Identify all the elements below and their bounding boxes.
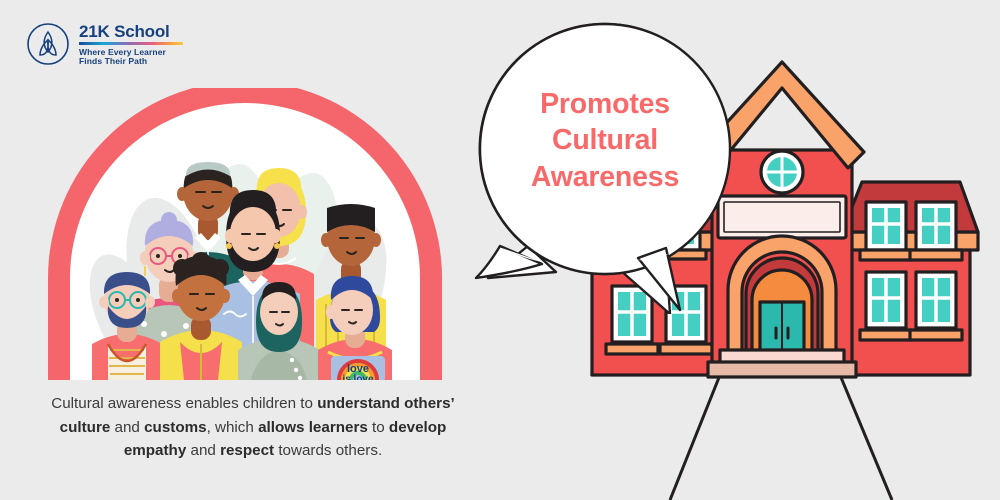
headline-text: Promotes Cultural Awareness: [486, 86, 724, 195]
school-entrance: [728, 236, 836, 358]
rainbow-badge: love is love: [331, 356, 385, 380]
lotus-circle-logo-icon: [26, 22, 70, 66]
brand-tagline-line2: Finds Their Path: [79, 57, 183, 66]
headline-line-3: Awareness: [486, 159, 724, 195]
caption-run: to: [368, 419, 389, 436]
headline-line-2: Cultural: [486, 122, 724, 158]
headline-line-1: Promotes: [486, 86, 724, 122]
caption-run: Cultural awareness enables children to: [51, 395, 317, 412]
poster-canvas: 21K School Where Every Learner Finds The…: [0, 0, 1000, 500]
caption-emphasis: allows learners: [258, 419, 368, 436]
caption-run: and: [110, 419, 144, 436]
school-right-wing: [842, 182, 978, 375]
school-steps: [708, 350, 856, 377]
brand-gradient-rule: [79, 42, 183, 45]
caption-text: Cultural awareness enables children to u…: [28, 392, 478, 463]
brand-name: 21K School: [79, 23, 183, 40]
diverse-people-illustration: love is love: [30, 88, 460, 380]
caption-run: and: [186, 442, 220, 459]
brand-logo-text: 21K School Where Every Learner Finds The…: [79, 23, 183, 65]
brand-logo[interactable]: 21K School Where Every Learner Finds The…: [26, 16, 206, 72]
caption-emphasis: customs: [144, 419, 206, 436]
caption-run: , which: [207, 419, 259, 436]
walkway-paths: [670, 375, 892, 500]
round-attic-window: [761, 151, 803, 193]
caption-emphasis: respect: [220, 442, 274, 459]
caption-run: towards others.: [274, 442, 382, 459]
svg-text:is love: is love: [342, 374, 374, 380]
